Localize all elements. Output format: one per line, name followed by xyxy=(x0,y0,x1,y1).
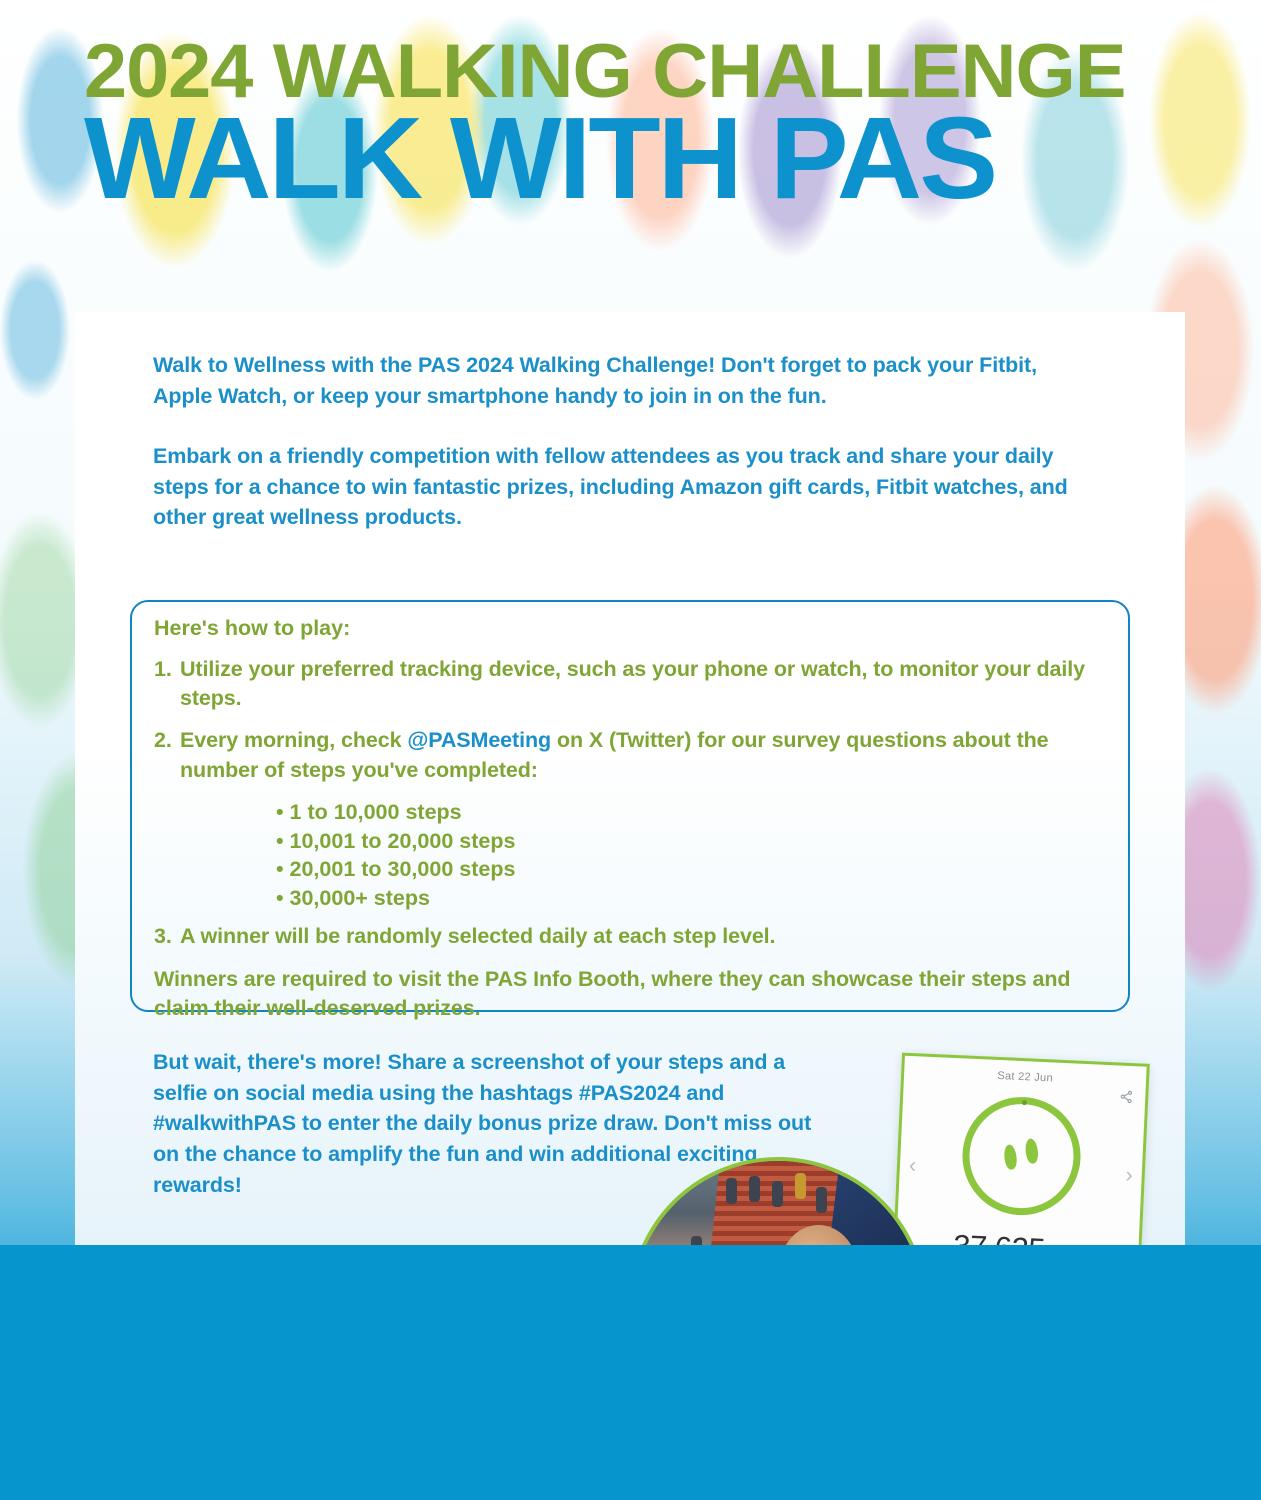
steps-progress-ring xyxy=(960,1094,1083,1217)
intro-paragraph-2: Embark on a friendly competition with fe… xyxy=(153,441,1068,533)
play-step-3: 3. A winner will be randomly selected da… xyxy=(154,922,1106,951)
intro-section: Walk to Wellness with the PAS 2024 Walki… xyxy=(153,350,1068,533)
play-step-2-text: Every morning, check @PASMeeting on X (T… xyxy=(180,726,1106,784)
play-step-1-number: 1. xyxy=(154,655,180,713)
how-to-play-list: 1. Utilize your preferred tracking devic… xyxy=(154,655,1106,785)
play-step-1: 1. Utilize your preferred tracking devic… xyxy=(154,655,1106,713)
how-to-play-box: Here's how to play: 1. Utilize your pref… xyxy=(130,600,1130,1012)
share-icon[interactable] xyxy=(1119,1089,1134,1104)
step-level-item: 1 to 10,000 steps xyxy=(276,798,1106,827)
app-date-label: Sat 22 Jun xyxy=(904,1066,1146,1089)
footprints-icon xyxy=(1000,1136,1044,1176)
poster-canvas: 2024 WALKING CHALLENGE WALK WITH PAS Wal… xyxy=(0,0,1261,1500)
step-level-item: 10,001 to 20,000 steps xyxy=(276,827,1106,856)
play-step-3-number: 3. xyxy=(154,922,180,951)
step-level-item: 20,001 to 30,000 steps xyxy=(276,855,1106,884)
step-level-item: 30,000+ steps xyxy=(276,884,1106,913)
ring-marker-dot xyxy=(1021,1100,1026,1105)
play-step-2: 2. Every morning, check @PASMeeting on X… xyxy=(154,726,1106,784)
pas-meeting-handle[interactable]: @PASMeeting xyxy=(407,728,551,752)
step-levels-list: 1 to 10,000 steps 10,001 to 20,000 steps… xyxy=(276,798,1106,912)
bottom-blue-band xyxy=(0,1245,1261,1500)
title-line-2: WALK WITH PAS xyxy=(84,105,1216,212)
play-step-3-text: A winner will be randomly selected daily… xyxy=(180,922,1106,951)
next-day-arrow-icon[interactable]: › xyxy=(1125,1162,1134,1188)
play-step-2-text-before: Every morning, check xyxy=(180,728,407,752)
poster-header: 2024 WALKING CHALLENGE WALK WITH PAS xyxy=(84,36,1194,212)
intro-paragraph-1: Walk to Wellness with the PAS 2024 Walki… xyxy=(153,350,1068,411)
play-step-2-number: 2. xyxy=(154,726,180,784)
play-step-1-text: Utilize your preferred tracking device, … xyxy=(180,655,1106,713)
winners-note: Winners are required to visit the PAS In… xyxy=(154,965,1106,1023)
how-to-play-heading: Here's how to play: xyxy=(154,616,1106,641)
how-to-play-list-continued: 3. A winner will be randomly selected da… xyxy=(154,922,1106,951)
